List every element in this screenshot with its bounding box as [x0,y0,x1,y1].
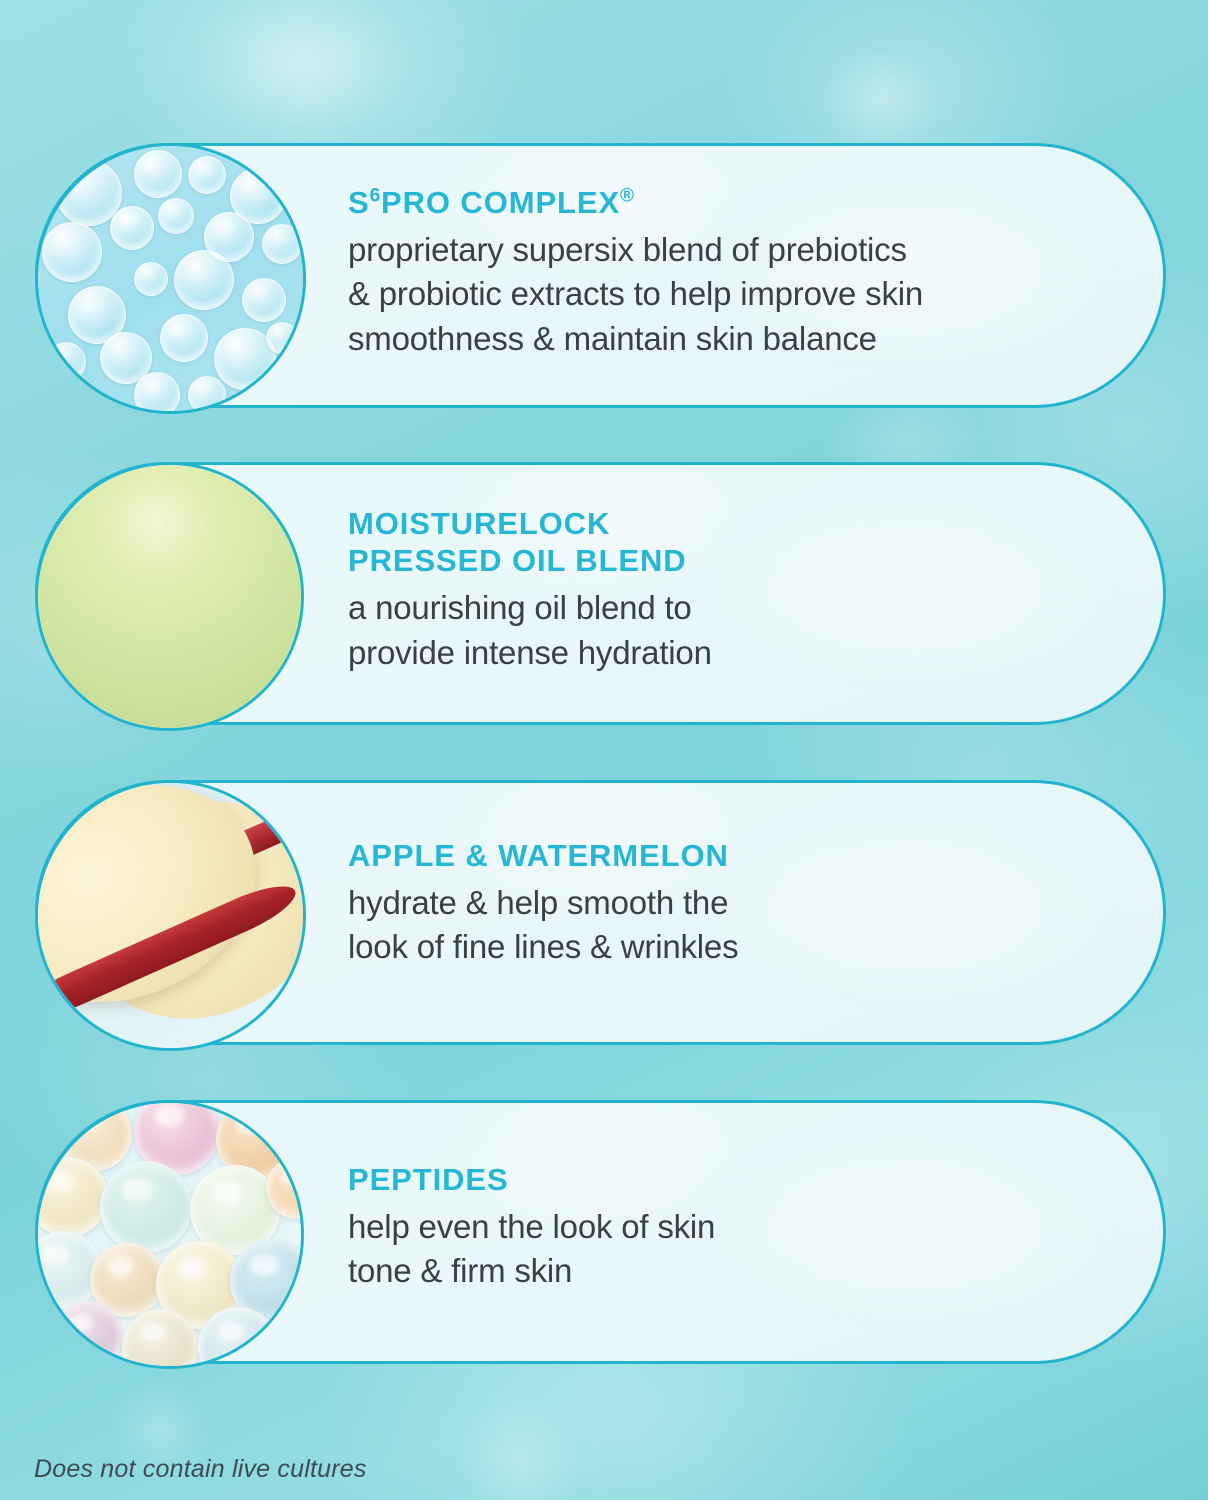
card-heading: PEPTIDES [348,1161,1123,1198]
superscript-six: 6 [370,186,381,207]
card-body: hydrate & help smooth the look of fine l… [348,881,1123,969]
registered-trademark-icon: ® [620,186,635,207]
ingredient-card-apple-watermelon: APPLE & WATERMELON hydrate & help smooth… [35,780,1166,1045]
apple-slices-art [38,783,303,1048]
body-line: proprietary supersix blend of prebiotics [348,228,1123,272]
heading-line: PRESSED OIL BLEND [348,542,1123,579]
apple-slices-image [35,780,306,1051]
bubbles-art [38,146,303,411]
card-body: a nourishing oil blend to provide intens… [348,586,1123,674]
oil-sphere-art [38,465,301,728]
heading-line: PEPTIDES [348,1161,1123,1198]
card-body: help even the look of skin tone & firm s… [348,1205,1123,1293]
oil-sphere-image [35,462,304,731]
peptide-beads-image [35,1100,304,1369]
ingredient-card-moisturelock-pressed-oil-blend: MOISTURELOCK PRESSED OIL BLEND a nourish… [35,462,1166,725]
body-line: smoothness & maintain skin balance [348,317,1123,361]
bubbles-image [35,143,306,414]
card-text-block: MOISTURELOCK PRESSED OIL BLEND a nourish… [348,505,1123,675]
oil-droplet-shape [38,465,301,728]
card-text-block: S6PRO COMPLEX® proprietary supersix blen… [348,184,1123,361]
ingredient-card-peptides: PEPTIDES help even the look of skin tone… [35,1100,1166,1364]
body-line: hydrate & help smooth the [348,881,1123,925]
peptide-beads-art [38,1103,301,1366]
body-line: look of fine lines & wrinkles [348,925,1123,969]
body-line: a nourishing oil blend to [348,586,1123,630]
body-line: help even the look of skin [348,1205,1123,1249]
heading-line: APPLE & WATERMELON [348,837,1123,874]
card-text-block: APPLE & WATERMELON hydrate & help smooth… [348,837,1123,970]
card-text-block: PEPTIDES help even the look of skin tone… [348,1161,1123,1294]
card-body: proprietary supersix blend of prebiotics… [348,228,1123,361]
body-line: provide intense hydration [348,631,1123,675]
card-heading: S6PRO COMPLEX® [348,184,1123,221]
body-line: & probiotic extracts to help improve ski… [348,272,1123,316]
ingredient-card-s6-pro-complex: S6PRO COMPLEX® proprietary supersix blen… [35,143,1166,408]
heading-line: MOISTURELOCK [348,505,1123,542]
card-heading: MOISTURELOCK PRESSED OIL BLEND [348,505,1123,579]
card-heading: APPLE & WATERMELON [348,837,1123,874]
body-line: tone & firm skin [348,1249,1123,1293]
footnote-disclaimer: Does not contain live cultures [34,1455,367,1484]
